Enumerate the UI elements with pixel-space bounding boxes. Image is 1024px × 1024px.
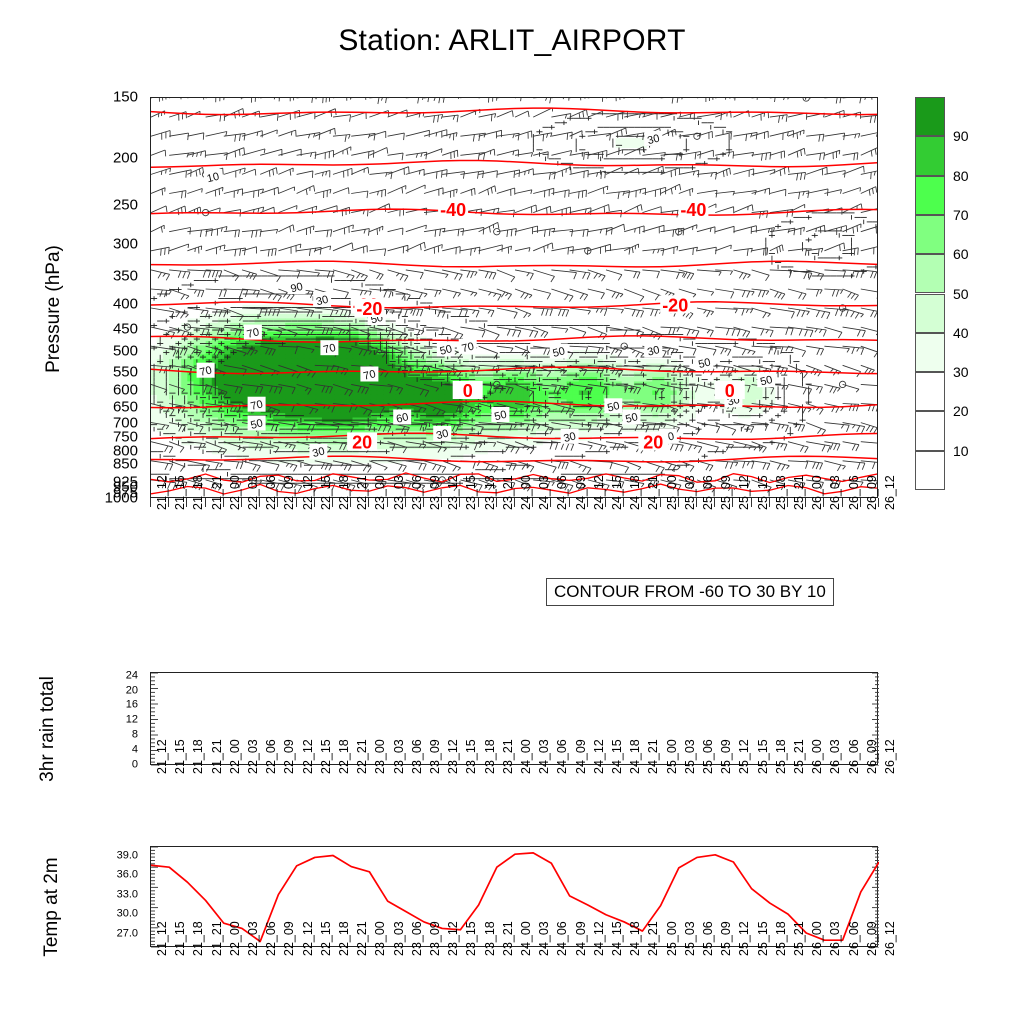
x-tick-mark [532, 498, 533, 507]
rain-y-tick-label: 0 [132, 760, 138, 771]
main-y-tick-label: 1000 [105, 491, 138, 506]
x-tick-label: 23_00 [373, 739, 387, 774]
colorbar-tick-label: 80 [953, 168, 969, 184]
main-y-tick-label: 550 [113, 364, 138, 379]
x-tick-label: 25_09 [719, 921, 733, 956]
x-tick-label: 26_12 [883, 921, 897, 956]
x-tick-mark [259, 498, 260, 507]
x-tick-mark [496, 498, 497, 507]
x-tick-mark [459, 498, 460, 507]
x-tick-label: 22_15 [319, 921, 333, 956]
colorbar-swatch[interactable] [915, 254, 945, 293]
colorbar-swatch[interactable] [915, 411, 945, 450]
x-tick-label: 23_03 [392, 921, 406, 956]
x-tick-label: 23_00 [373, 921, 387, 956]
main-x-axis-labels: 21_1221_1521_1821_2122_0022_0322_0622_09… [150, 508, 878, 578]
temp-y-axis-labels: 27.030.033.036.039.0 [0, 846, 144, 947]
x-tick-label: 24_03 [537, 921, 551, 956]
rain-y-tick-label: 4 [132, 745, 138, 756]
x-tick-mark [660, 498, 661, 507]
temp-y-tick-label: 27.0 [117, 928, 138, 939]
x-tick-label: 21_15 [173, 921, 187, 956]
x-tick-label: 25_15 [756, 921, 770, 956]
x-tick-mark [678, 498, 679, 507]
x-tick-mark [405, 498, 406, 507]
contour-legend-box: CONTOUR FROM -60 TO 30 BY 10 [546, 578, 834, 606]
colorbar-swatch[interactable] [915, 372, 945, 411]
x-tick-label: 24_15 [610, 739, 624, 774]
x-tick-label: 25_18 [774, 921, 788, 956]
x-tick-label: 26_06 [847, 739, 861, 774]
x-tick-label: 24_09 [574, 739, 588, 774]
x-tick-mark [186, 498, 187, 507]
x-tick-label: 26_00 [810, 739, 824, 774]
x-tick-mark [587, 498, 588, 507]
x-tick-label: 26_12 [883, 739, 897, 774]
x-tick-mark [332, 498, 333, 507]
x-tick-label: 22_06 [264, 739, 278, 774]
colorbar-swatch[interactable] [915, 176, 945, 215]
x-tick-label: 21_15 [173, 739, 187, 774]
colorbar-tick-label: 20 [953, 403, 969, 419]
x-tick-label: 25_12 [737, 921, 751, 956]
x-tick-mark [423, 498, 424, 507]
x-tick-label: 21_12 [155, 739, 169, 774]
main-y-tick-label: 500 [113, 344, 138, 359]
x-tick-mark [441, 498, 442, 507]
colorbar-tick-label: 40 [953, 325, 969, 341]
x-tick-label: 23_21 [501, 739, 515, 774]
x-tick-label: 22_03 [246, 739, 260, 774]
main-x-axis-ticks [150, 498, 878, 508]
x-tick-mark [314, 498, 315, 507]
rain-y-tick-label: 8 [132, 730, 138, 741]
x-tick-label: 25_03 [683, 739, 697, 774]
rain-y-tick-label: 24 [126, 670, 138, 681]
main-y-tick-label: 650 [113, 399, 138, 414]
x-tick-mark [732, 498, 733, 507]
x-tick-mark [751, 498, 752, 507]
x-tick-mark [842, 498, 843, 507]
x-tick-mark [860, 498, 861, 507]
x-tick-mark [805, 498, 806, 507]
rain-y-tick-label: 12 [126, 715, 138, 726]
x-tick-label: 22_21 [355, 739, 369, 774]
temp-y-tick-label: 36.0 [117, 870, 138, 881]
x-tick-label: 23_06 [410, 739, 424, 774]
main-y-tick-label: 600 [113, 383, 138, 398]
x-tick-label: 22_06 [264, 921, 278, 956]
x-tick-mark [368, 498, 369, 507]
colorbar-swatch[interactable] [915, 451, 945, 490]
x-tick-label: 24_21 [646, 921, 660, 956]
relative-humidity-colorbar[interactable]: 908070605040302010 [915, 97, 945, 490]
colorbar-tick-label: 50 [953, 286, 969, 302]
x-tick-label: 25_03 [683, 921, 697, 956]
x-tick-mark [387, 498, 388, 507]
x-tick-label: 26_03 [828, 921, 842, 956]
time-height-cross-section-plot[interactable]: 1030507070705030907050307070506050503030… [150, 97, 878, 498]
x-tick-label: 23_09 [428, 921, 442, 956]
x-tick-mark [223, 498, 224, 507]
x-tick-label: 24_00 [519, 739, 533, 774]
x-tick-label: 22_18 [337, 921, 351, 956]
x-tick-label: 23_21 [501, 921, 515, 956]
x-tick-mark [623, 498, 624, 507]
x-tick-label: 24_15 [610, 921, 624, 956]
x-tick-label: 22_18 [337, 739, 351, 774]
colorbar-swatch[interactable] [915, 136, 945, 175]
x-tick-mark [714, 498, 715, 507]
x-tick-label: 24_18 [628, 921, 642, 956]
x-tick-label: 22_12 [301, 739, 315, 774]
x-tick-label: 23_03 [392, 739, 406, 774]
x-tick-label: 23_15 [464, 921, 478, 956]
x-tick-mark [769, 498, 770, 507]
x-tick-label: 25_21 [792, 739, 806, 774]
temp-y-tick-label: 39.0 [117, 850, 138, 861]
x-tick-label: 26_12 [883, 475, 897, 510]
colorbar-tick-label: 10 [953, 443, 969, 459]
x-tick-mark [150, 498, 151, 507]
x-tick-label: 23_12 [446, 921, 460, 956]
x-tick-label: 25_18 [774, 739, 788, 774]
x-tick-label: 26_09 [865, 739, 879, 774]
x-tick-label: 25_00 [665, 739, 679, 774]
rain-y-axis-labels: 04812162024 [0, 672, 144, 765]
rain-x-axis-labels: 21_1221_1521_1821_2122_0022_0322_0622_09… [150, 772, 878, 842]
x-tick-mark [478, 498, 479, 507]
x-tick-label: 24_00 [519, 921, 533, 956]
x-tick-label: 22_15 [319, 739, 333, 774]
x-tick-label: 22_03 [246, 921, 260, 956]
main-y-tick-label: 150 [113, 90, 138, 105]
rain-y-tick-label: 20 [126, 685, 138, 696]
x-tick-mark [569, 498, 570, 507]
rain-y-tick-label: 16 [126, 700, 138, 711]
main-y-tick-label: 300 [113, 236, 138, 251]
x-tick-label: 26_00 [810, 921, 824, 956]
x-tick-mark [878, 498, 879, 507]
x-tick-label: 26_03 [828, 739, 842, 774]
x-tick-label: 22_00 [228, 739, 242, 774]
main-y-tick-label: 850 [113, 456, 138, 471]
colorbar-tick-label: 90 [953, 128, 969, 144]
temp-y-tick-label: 30.0 [117, 909, 138, 920]
colorbar-tick-label: 60 [953, 246, 969, 262]
main-y-axis-labels: 1502002503003504004505005506006507007508… [0, 97, 144, 498]
x-tick-label: 25_12 [737, 739, 751, 774]
colorbar-swatch[interactable] [915, 333, 945, 372]
x-tick-label: 24_21 [646, 739, 660, 774]
x-tick-label: 25_21 [792, 921, 806, 956]
x-tick-label: 26_06 [847, 921, 861, 956]
x-tick-label: 24_12 [592, 921, 606, 956]
x-tick-label: 24_03 [537, 739, 551, 774]
x-tick-mark [350, 498, 351, 507]
temp-x-axis-labels: 21_1221_1521_1821_2122_0022_0322_0622_09… [150, 954, 878, 1024]
x-tick-label: 25_06 [701, 739, 715, 774]
x-tick-label: 24_12 [592, 739, 606, 774]
colorbar-swatch[interactable] [915, 97, 945, 136]
x-tick-mark [823, 498, 824, 507]
main-y-tick-label: 400 [113, 297, 138, 312]
x-tick-mark [787, 498, 788, 507]
x-tick-label: 21_12 [155, 921, 169, 956]
x-tick-label: 22_09 [282, 739, 296, 774]
x-tick-label: 22_09 [282, 921, 296, 956]
main-y-tick-label: 250 [113, 197, 138, 212]
x-tick-label: 23_06 [410, 921, 424, 956]
x-tick-label: 23_18 [483, 739, 497, 774]
page-title: Station: ARLIT_AIRPORT [0, 24, 1024, 58]
main-y-tick-label: 200 [113, 150, 138, 165]
x-tick-label: 22_00 [228, 921, 242, 956]
x-tick-label: 21_18 [191, 921, 205, 956]
x-tick-mark [605, 498, 606, 507]
colorbar-swatch[interactable] [915, 215, 945, 254]
x-tick-label: 25_00 [665, 921, 679, 956]
x-tick-mark [696, 498, 697, 507]
x-tick-mark [168, 498, 169, 507]
x-tick-label: 23_12 [446, 739, 460, 774]
x-tick-label: 25_09 [719, 739, 733, 774]
colorbar-swatch[interactable] [915, 294, 945, 333]
x-tick-label: 25_15 [756, 739, 770, 774]
colorbar-tick-label: 70 [953, 207, 969, 223]
x-tick-label: 21_21 [210, 921, 224, 956]
x-tick-mark [277, 498, 278, 507]
main-y-tick-label: 350 [113, 269, 138, 284]
x-tick-label: 23_18 [483, 921, 497, 956]
x-tick-label: 21_18 [191, 739, 205, 774]
x-tick-label: 21_21 [210, 739, 224, 774]
main-plot-svg: 1030507070705030907050307070506050503030… [151, 98, 878, 498]
x-tick-label: 22_12 [301, 921, 315, 956]
x-tick-label: 24_06 [555, 921, 569, 956]
x-tick-mark [550, 498, 551, 507]
colorbar-tick-label: 30 [953, 364, 969, 380]
x-tick-label: 26_09 [865, 921, 879, 956]
x-tick-mark [241, 498, 242, 507]
x-tick-mark [296, 498, 297, 507]
x-tick-mark [205, 498, 206, 507]
x-tick-label: 24_06 [555, 739, 569, 774]
x-tick-mark [641, 498, 642, 507]
x-tick-label: 23_15 [464, 739, 478, 774]
x-tick-label: 24_09 [574, 921, 588, 956]
x-tick-label: 25_06 [701, 921, 715, 956]
main-y-tick-label: 450 [113, 322, 138, 337]
x-tick-label: 22_21 [355, 921, 369, 956]
temp-y-tick-label: 33.0 [117, 889, 138, 900]
x-tick-mark [514, 498, 515, 507]
x-tick-label: 23_09 [428, 739, 442, 774]
x-tick-label: 24_18 [628, 739, 642, 774]
